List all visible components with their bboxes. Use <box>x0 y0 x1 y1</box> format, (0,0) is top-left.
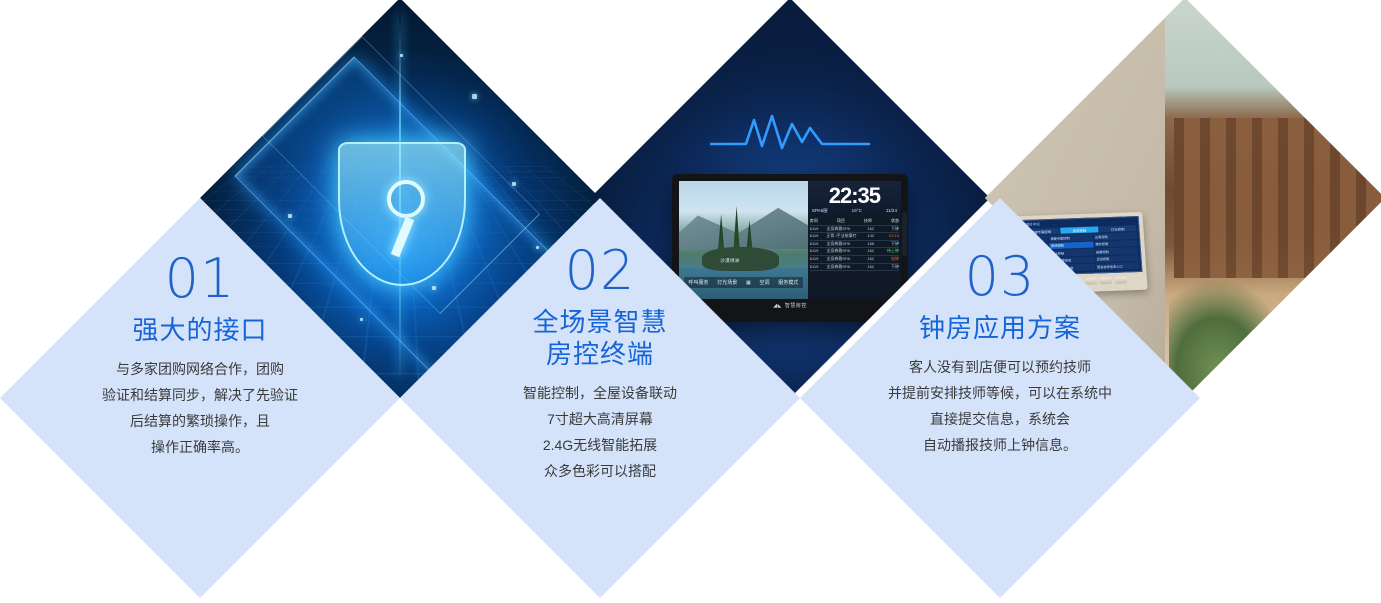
cell-room: 6119 <box>810 233 826 240</box>
screen-right-panel: 22:35 SPA6层 16°C 11/24 房间 项目 技师 <box>808 181 901 299</box>
panel-button-5[interactable] <box>1114 276 1126 283</box>
feature-card-03-body: 客人没有到店便可以预约技师 并提前安排技师等候，可以在系统中 直接提交信息，系统… <box>844 354 1156 458</box>
brand-logo-text: 智慧房控 <box>785 302 807 309</box>
cell-status: 下钟 <box>879 226 899 233</box>
tree-shape <box>733 206 740 254</box>
tablet-device: 沙漠绿洲 呼叫服务 灯光场景 ▦ 空调 服务模式 22:35 <box>672 174 908 322</box>
wood-railing <box>1174 118 1381 278</box>
cell-room: 6119 <box>810 226 826 233</box>
tablet-side-button[interactable] <box>902 212 907 256</box>
cell-room: 6119 <box>810 256 826 263</box>
cell-item: 正骨./手法按摩疗 <box>826 233 862 240</box>
col-item: 项目 <box>837 218 845 225</box>
feature-card-01-body: 与多家团购网络合作，团购 验证和结算同步，解决了先验证 后结算的繁琐操作，且 操… <box>44 356 356 460</box>
table-row: 6119 全身典雅SPA 162 下钟 <box>810 264 899 272</box>
body-line: 直接提交信息，系统会 <box>844 406 1156 432</box>
control-button-1[interactable]: 灯光场景 <box>717 279 737 286</box>
mountain-shape <box>679 202 808 249</box>
cell-room: 6119 <box>810 264 826 271</box>
cell-status: 下钟 <box>879 264 899 271</box>
screen-control-bar[interactable]: 呼叫服务 灯光场景 ▦ 空调 服务模式 <box>684 277 802 288</box>
cell-tech: 142 <box>863 233 879 240</box>
col-status: 状态 <box>891 218 899 225</box>
cell-item: 全身典雅SPA <box>826 256 862 263</box>
body-line: 客人没有到店便可以预约技师 <box>844 354 1156 380</box>
clock-meta-floor: SPA6层 <box>812 208 828 214</box>
cell-status: 待上钟 <box>879 248 899 255</box>
body-line: 7寸超大高清屏幕 <box>444 406 756 432</box>
body-line: 众多色彩可以搭配 <box>444 458 756 484</box>
feature-card-01-title: 强大的接口 <box>44 314 356 346</box>
panel-button-3[interactable] <box>1084 277 1096 284</box>
screen-wallpaper: 沙漠绿洲 呼叫服务 灯光场景 ▦ 空调 服务模式 <box>679 181 808 299</box>
cell-tech: 162 <box>863 248 879 255</box>
body-line: 操作正确率高。 <box>44 434 356 460</box>
plant-foliage-light <box>1233 318 1323 398</box>
cell-item: 全身典雅SPA <box>826 248 862 255</box>
service-table: 房间 项目 技师 状态 6119 全身典雅SPA 162 下钟 <box>808 216 901 299</box>
table-row: 6119 全身典雅SPA 162 待上钟 <box>810 248 899 256</box>
body-line: 与多家团购网络合作，团购 <box>44 356 356 382</box>
control-button-2[interactable]: 空调 <box>759 279 769 286</box>
pulse-wave-icon <box>710 110 870 156</box>
cell-item: 全身典雅SPA <box>826 241 862 248</box>
clock-meta-temp: 16°C <box>852 208 862 214</box>
cell-status: 加钟 <box>879 256 899 263</box>
panel-right-item-4[interactable]: 更多技师信息入口 <box>1095 262 1139 270</box>
col-tech: 技师 <box>864 218 872 225</box>
col-room: 房间 <box>810 218 818 225</box>
title-line: 房控终端 <box>444 338 756 370</box>
clock-time: 22:35 <box>811 185 898 207</box>
cell-tech: 166 <box>863 241 879 248</box>
cell-tech: 162 <box>863 264 879 271</box>
cell-status: 下钟 <box>879 241 899 248</box>
feature-card-02-body: 智能控制，全屋设备联动 7寸超大高清屏幕 2.4G无线智能拓展 众多色彩可以搭配 <box>444 380 756 484</box>
panel-right-column[interactable]: 正骨控制 理疗控制 按摩控制 足浴控制 更多技师信息入口 <box>1093 232 1139 270</box>
brand-logo-icon: ◢◣ <box>773 303 782 309</box>
clock-meta: SPA6层 16°C 11/24 <box>811 207 898 214</box>
body-line: 验证和结算同步，解决了先验证 <box>44 382 356 408</box>
plant-foliage <box>1169 280 1289 390</box>
panel-button-4[interactable] <box>1099 277 1111 284</box>
clock-widget: 22:35 SPA6层 16°C 11/24 <box>808 181 901 216</box>
control-button-3[interactable]: 服务模式 <box>778 279 798 286</box>
table-row: 6119 正骨./手法按摩疗 142 01:15 <box>810 233 899 241</box>
cell-item: 全身典雅SPA <box>826 226 862 233</box>
island-shape <box>702 247 779 271</box>
cell-status: 01:15 <box>879 233 899 240</box>
title-line: 全场景智慧 <box>444 306 756 338</box>
tablet-brand-strip: ◢◣ 智慧房控 <box>679 299 901 312</box>
tablet-screen[interactable]: 沙漠绿洲 呼叫服务 灯光场景 ▦ 空调 服务模式 22:35 <box>679 181 901 299</box>
body-line: 智能控制，全屋设备联动 <box>444 380 756 406</box>
apps-grid-icon[interactable]: ▦ <box>746 280 751 286</box>
feature-card-02-title: 全场景智慧 房控终端 <box>444 306 756 370</box>
wallpaper-label: 沙漠绿洲 <box>720 258 740 264</box>
body-line: 并提前安排技师等候，可以在系统中 <box>844 380 1156 406</box>
table-header-row: 房间 项目 技师 状态 <box>810 218 899 226</box>
cell-tech: 162 <box>863 256 879 263</box>
body-line: 自动播报技师上钟信息。 <box>844 432 1156 458</box>
control-button-0[interactable]: 呼叫服务 <box>689 279 709 286</box>
cell-room: 6119 <box>810 248 826 255</box>
body-line: 后结算的繁琐操作，且 <box>44 408 356 434</box>
clock-meta-date: 11/24 <box>886 208 897 214</box>
promo-feature-banner: 沙漠绿洲 呼叫服务 灯光场景 ▦ 空调 服务模式 22:35 <box>0 0 1381 603</box>
feature-card-03-title: 钟房应用方案 <box>844 312 1156 344</box>
cell-item: 全身典雅SPA <box>826 264 862 271</box>
cell-tech: 162 <box>863 226 879 233</box>
body-line: 2.4G无线智能拓展 <box>444 432 756 458</box>
table-row: 6119 全身典雅SPA 166 下钟 <box>810 241 899 249</box>
cell-room: 6119 <box>810 241 826 248</box>
table-row: 6119 全身典雅SPA 162 加钟 <box>810 256 899 264</box>
